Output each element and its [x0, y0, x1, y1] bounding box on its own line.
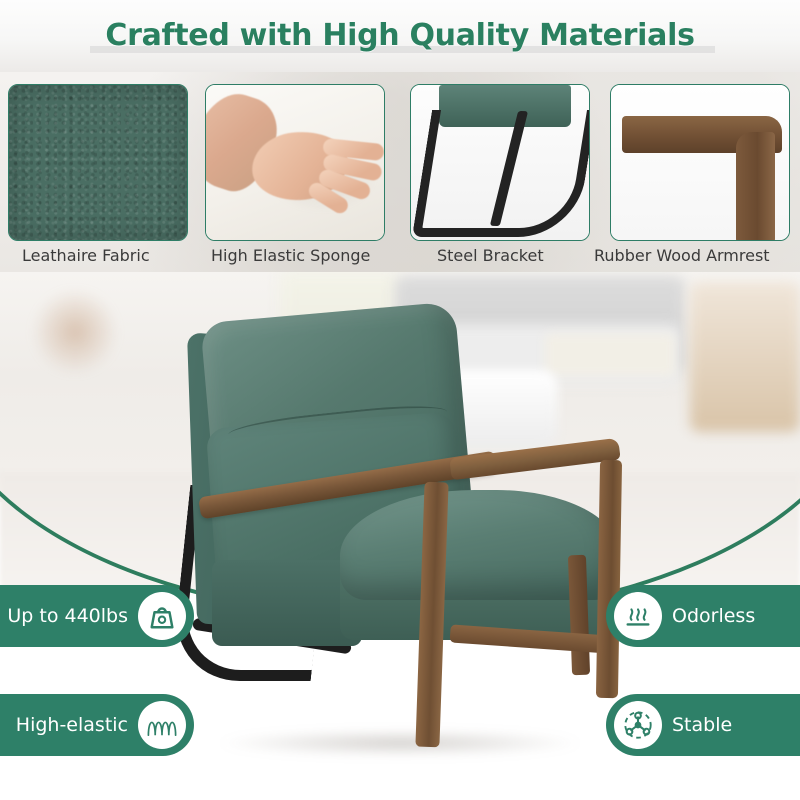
material-caption-leathaire-fabric: Leathaire Fabric: [22, 246, 150, 265]
feature-label: Up to 440lbs: [7, 605, 128, 627]
feature-label: Stable: [672, 714, 732, 736]
feature-badge-stable[interactable]: Stable: [606, 694, 800, 756]
steel-bracket-icon: [411, 85, 589, 240]
material-thumbnail-steel-bracket[interactable]: [410, 84, 590, 241]
wood-armrest-right: [449, 438, 620, 481]
molecule-stability-icon: [614, 701, 662, 749]
material-thumbnail-high-elastic-sponge[interactable]: [205, 84, 385, 241]
material-caption-steel-bracket: Steel Bracket: [437, 246, 544, 265]
material-caption-high-elastic-sponge: High Elastic Sponge: [211, 246, 370, 265]
leather-swatch-icon: [9, 85, 187, 240]
wood-grain-texture: [611, 85, 789, 240]
weight-icon: [138, 592, 186, 640]
page-title: Crafted with High Quality Materials: [0, 18, 800, 53]
steam-waves-icon: [614, 592, 662, 640]
feature-badge-up-to-440lbs[interactable]: Up to 440lbs: [0, 585, 194, 647]
feature-badge-high-elastic[interactable]: High-elastic: [0, 694, 194, 756]
material-thumbnail-rubber-wood-armrest[interactable]: [610, 84, 790, 241]
feature-badge-odorless[interactable]: Odorless: [606, 585, 800, 647]
hand-pressing-foam-icon: [206, 85, 384, 240]
right-wood-leg: [596, 460, 622, 698]
chair-floor-shadow: [220, 730, 580, 756]
product-infographic: Crafted with High Quality Materials: [0, 0, 800, 800]
material-thumbnail-leathaire-fabric[interactable]: [8, 84, 188, 241]
feature-label: Odorless: [672, 605, 755, 627]
spring-wave-icon: [138, 701, 186, 749]
feature-label: High-elastic: [16, 714, 128, 736]
wood-armrest-icon: [611, 85, 789, 240]
materials-thumbnail-strip: [0, 72, 800, 272]
header-band: Crafted with High Quality Materials: [0, 0, 800, 72]
armchair-product-photo: [150, 300, 650, 780]
material-caption-rubber-wood-armrest: Rubber Wood Armrest: [594, 246, 770, 265]
